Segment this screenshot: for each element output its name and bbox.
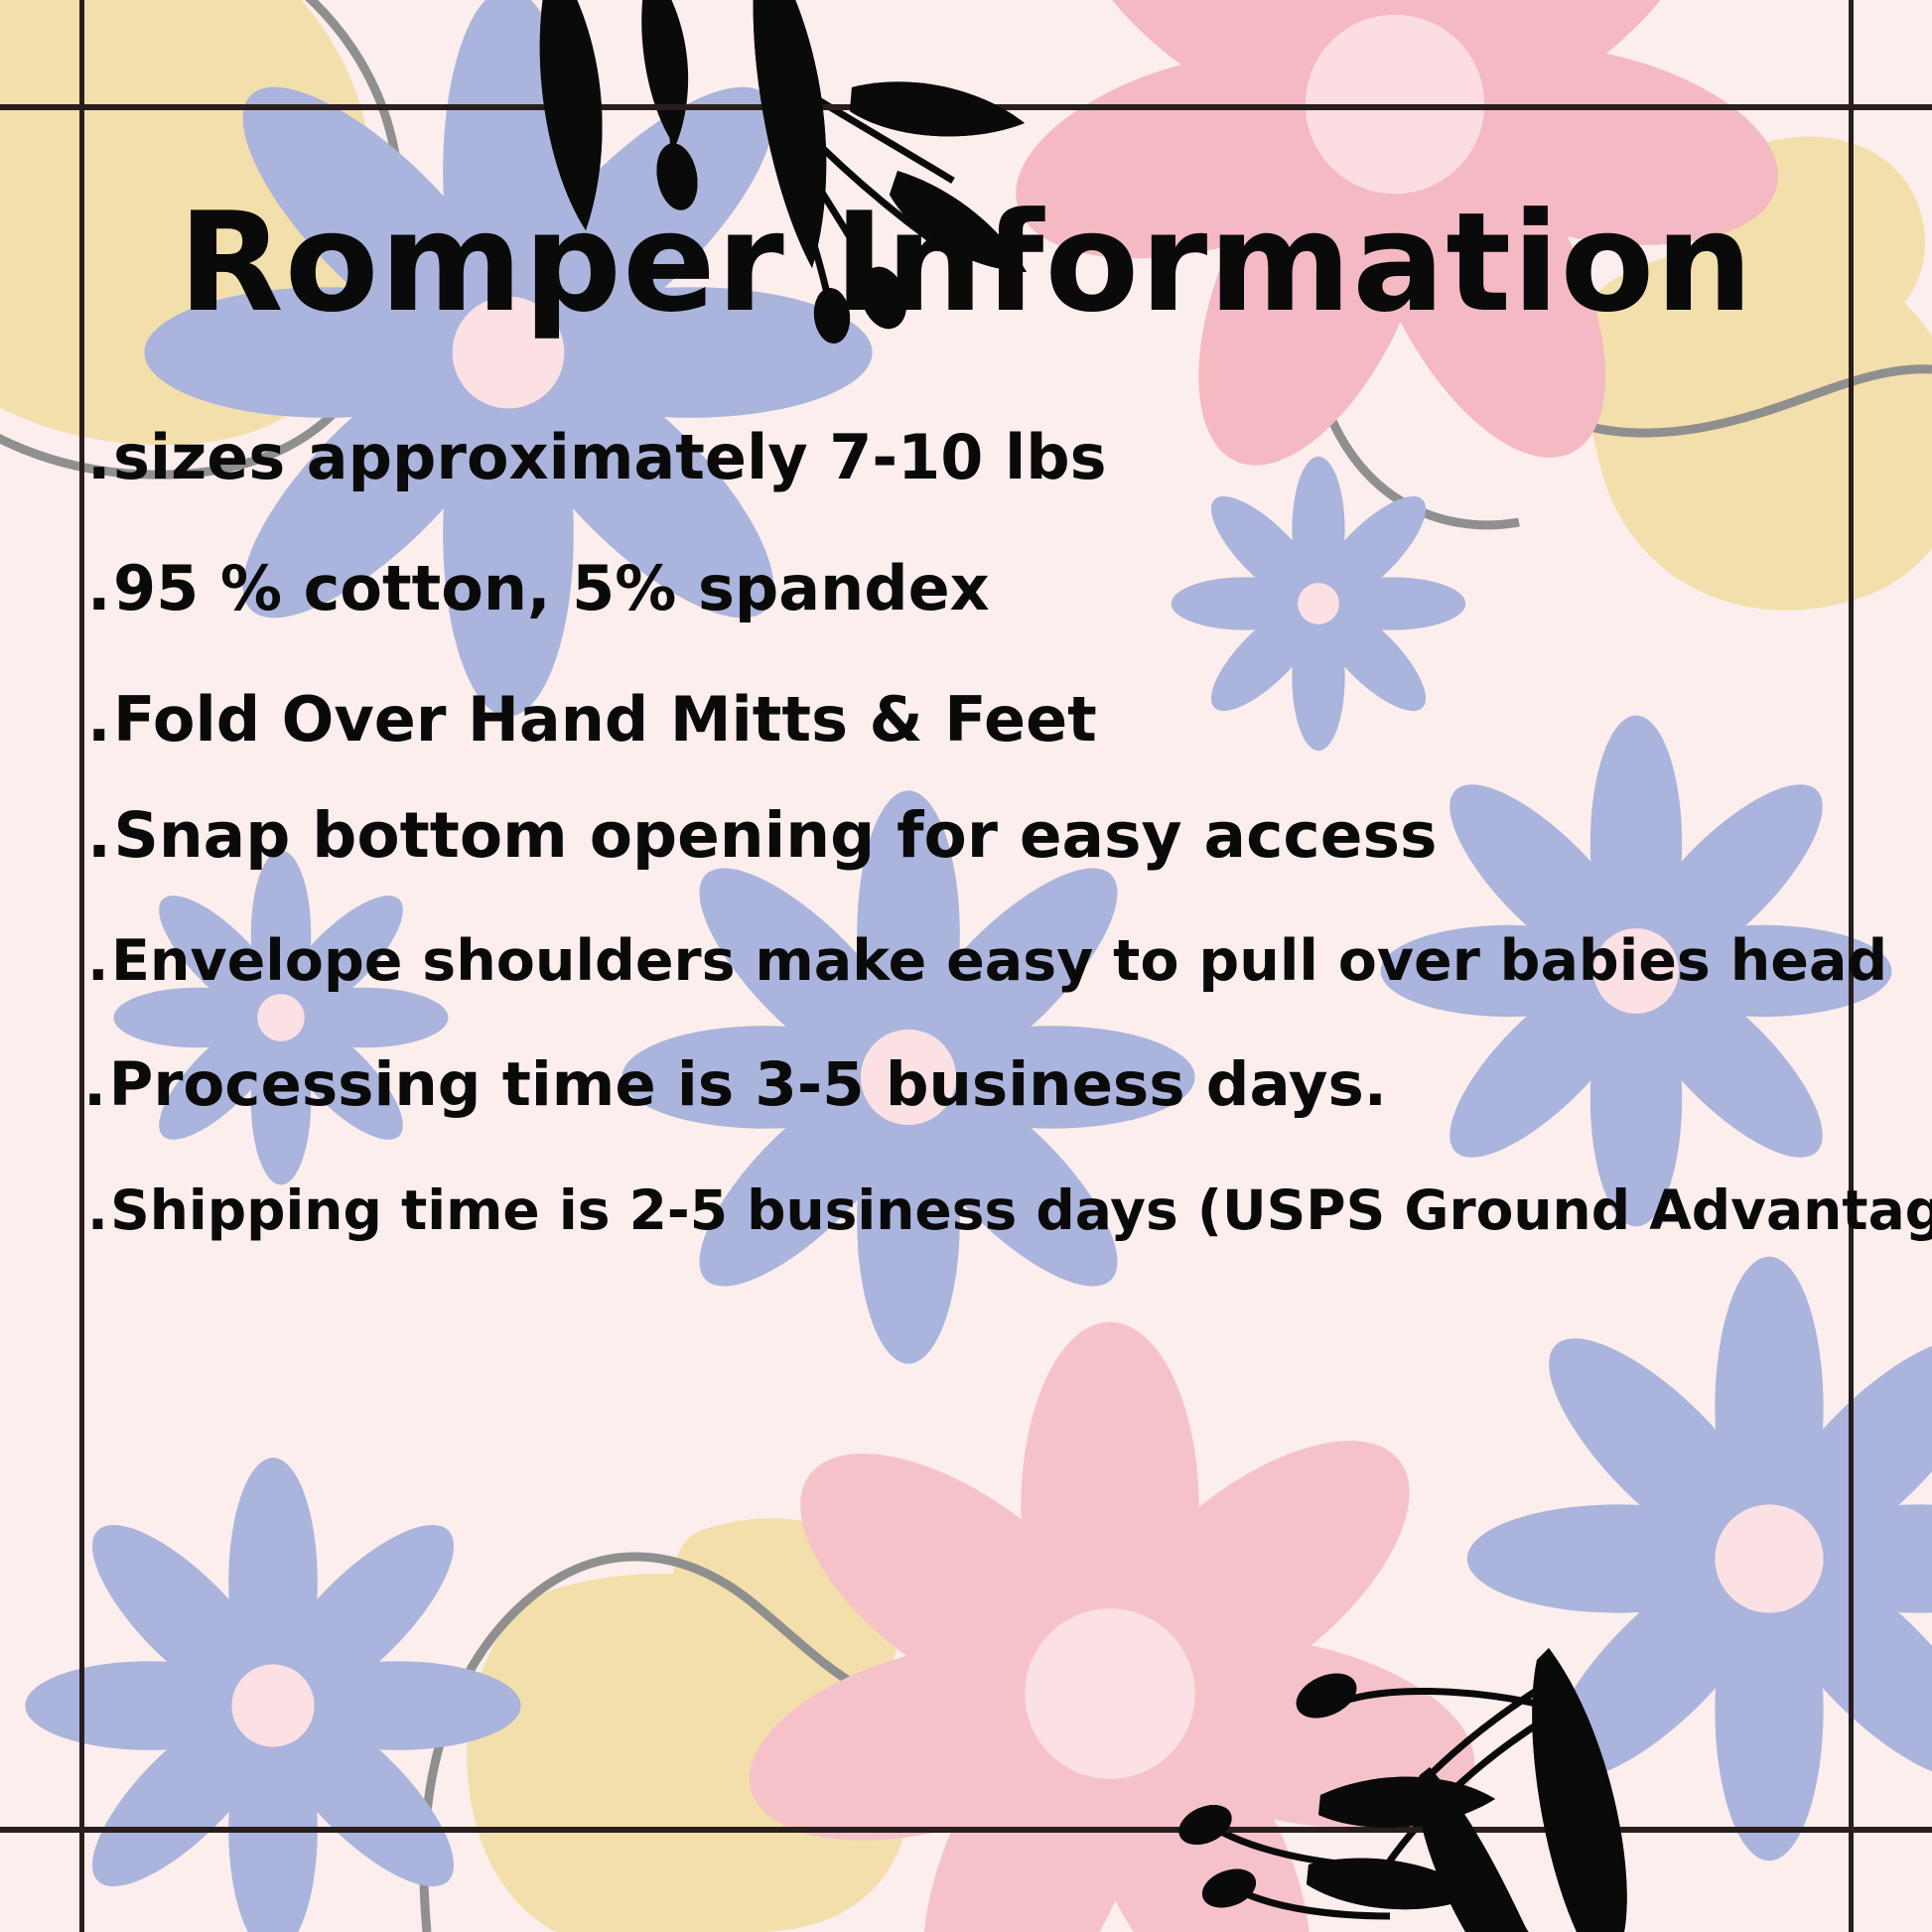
- bullet-marker: .: [87, 804, 113, 867]
- bullet-marker: .: [83, 1054, 109, 1115]
- list-item-text: sizes approximately 7-10 lbs: [113, 421, 1106, 493]
- list-item-text: Shipping time is 2-5 business days (USPS…: [110, 1178, 1932, 1242]
- list-item-text: Snap bottom opening for easy access: [113, 799, 1437, 872]
- list-item-text: Processing time is 3-5 business days.: [109, 1049, 1387, 1120]
- bullet-marker: .: [87, 558, 113, 620]
- bullet-marker: .: [87, 427, 113, 488]
- list-item: .Fold Over Hand Mitts & Feet: [87, 689, 1097, 751]
- bullet-marker: .: [87, 689, 113, 751]
- list-item: .Envelope shoulders make easy to pull ov…: [87, 933, 1887, 990]
- list-item: .Snap bottom opening for easy access: [87, 804, 1437, 867]
- bullet-marker: .: [87, 933, 111, 990]
- bullet-marker: .: [87, 1183, 110, 1238]
- list-item: .sizes approximately 7-10 lbs: [87, 427, 1106, 488]
- list-item: .Shipping time is 2-5 business days (USP…: [87, 1183, 1932, 1238]
- list-item-text: Envelope shoulders make easy to pull ove…: [111, 928, 1887, 994]
- romper-information-graphic: Romper Information .sizes approximately …: [0, 0, 1932, 1932]
- page-title: Romper Information: [0, 195, 1932, 332]
- list-item-text: Fold Over Hand Mitts & Feet: [113, 683, 1097, 756]
- list-item: .95 % cotton, 5% spandex: [87, 558, 990, 620]
- list-item: .Processing time is 3-5 business days.: [83, 1054, 1387, 1115]
- list-item-text: 95 % cotton, 5% spandex: [113, 552, 990, 624]
